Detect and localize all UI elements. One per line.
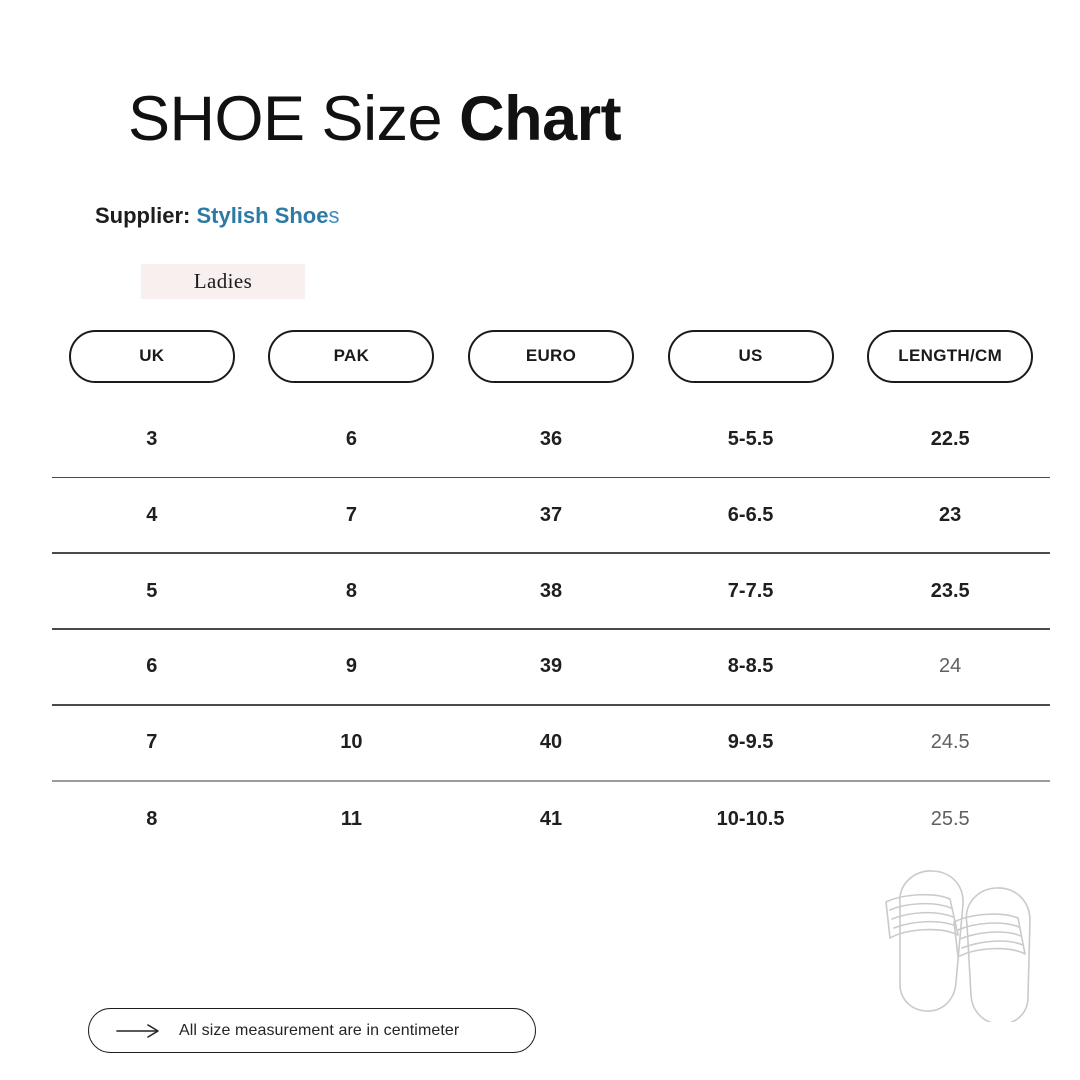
supplier-line: Supplier: Stylish Shoes [95, 202, 340, 230]
table-row: 6 9 39 8-8.5 24 [52, 630, 1050, 705]
size-table-header-row: UK PAK EURO US LENGTH/CM [52, 328, 1050, 384]
table-row: 8 11 41 10-10.5 25.5 [52, 782, 1050, 857]
shoe-size-chart-page: SHOE Size Chart Supplier: Stylish Shoes … [0, 0, 1080, 1080]
cell-us: 7-7.5 [651, 554, 851, 629]
cell-length-cm: 23 [850, 478, 1050, 553]
cell-euro: 38 [451, 554, 651, 629]
cell-uk: 6 [52, 630, 252, 705]
header-cell-us: US [651, 328, 851, 384]
header-cell-uk: UK [52, 328, 252, 384]
footer-note-badge: All size measurement are in centimeter [88, 1008, 536, 1053]
header-pill-euro[interactable]: EURO [468, 330, 634, 383]
cell-us: 9-9.5 [651, 706, 851, 781]
cell-euro: 39 [451, 630, 651, 705]
cell-us: 10-10.5 [651, 782, 851, 857]
category-badge-label: Ladies [194, 269, 252, 294]
cell-uk: 4 [52, 478, 252, 553]
cell-length-cm: 24.5 [850, 706, 1050, 781]
slide-sandals-pair-icon [878, 862, 1048, 1022]
cell-us: 5-5.5 [651, 402, 851, 477]
cell-pak: 10 [252, 706, 452, 781]
cell-pak: 7 [252, 478, 452, 553]
header-cell-euro: EURO [451, 328, 651, 384]
table-row: 3 6 36 5-5.5 22.5 [52, 402, 1050, 477]
cell-length-cm: 24 [850, 630, 1050, 705]
header-pill-uk[interactable]: UK [69, 330, 235, 383]
table-row: 4 7 37 6-6.5 23 [52, 478, 1050, 553]
header-pill-length-cm[interactable]: LENGTH/CM [867, 330, 1033, 383]
cell-length-cm: 25.5 [850, 782, 1050, 857]
header-pill-pak[interactable]: PAK [268, 330, 434, 383]
arrow-right-icon [115, 1023, 161, 1039]
cell-uk: 8 [52, 782, 252, 857]
cell-pak: 8 [252, 554, 452, 629]
cell-length-cm: 23.5 [850, 554, 1050, 629]
cell-us: 8-8.5 [651, 630, 851, 705]
cell-pak: 6 [252, 402, 452, 477]
header-gap-spacer [52, 384, 1050, 402]
header-cell-length: LENGTH/CM [850, 328, 1050, 384]
cell-euro: 41 [451, 782, 651, 857]
header-pill-us[interactable]: US [668, 330, 834, 383]
supplier-name-bold: Stylish Shoe [196, 203, 328, 228]
page-title: SHOE Size Chart [128, 80, 621, 158]
cell-pak: 9 [252, 630, 452, 705]
table-row: 7 10 40 9-9.5 24.5 [52, 706, 1050, 781]
cell-uk: 3 [52, 402, 252, 477]
size-table: UK PAK EURO US LENGTH/CM 3 6 36 5-5.5 22… [52, 328, 1050, 857]
footer-note-text: All size measurement are in centimeter [179, 1022, 459, 1040]
supplier-label: Supplier: [95, 203, 196, 228]
cell-us: 6-6.5 [651, 478, 851, 553]
supplier-name-light: s [329, 203, 340, 228]
cell-length-cm: 22.5 [850, 402, 1050, 477]
cell-euro: 36 [451, 402, 651, 477]
page-title-bold: Chart [459, 84, 621, 154]
cell-uk: 5 [52, 554, 252, 629]
cell-euro: 37 [451, 478, 651, 553]
cell-euro: 40 [451, 706, 651, 781]
page-title-light: SHOE Size [128, 84, 459, 154]
header-cell-pak: PAK [252, 328, 452, 384]
table-row: 5 8 38 7-7.5 23.5 [52, 554, 1050, 629]
category-badge-ladies: Ladies [141, 264, 305, 299]
cell-uk: 7 [52, 706, 252, 781]
cell-pak: 11 [252, 782, 452, 857]
